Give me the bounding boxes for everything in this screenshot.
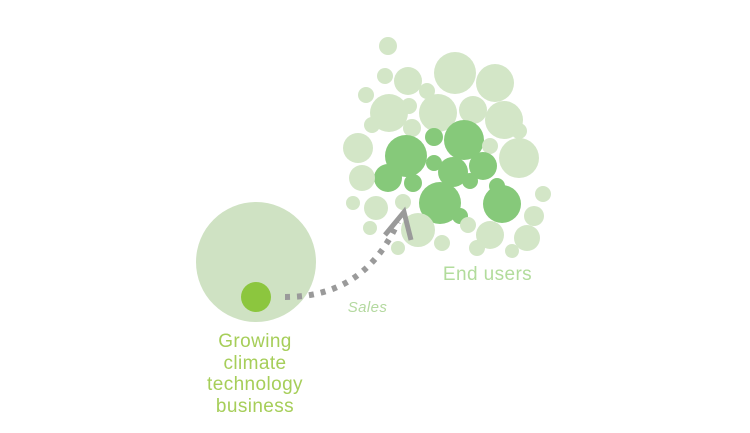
sales-flow-arrow [0, 0, 750, 433]
source-business-label: Growingclimatetechnologybusiness [160, 331, 350, 417]
sales-arrow-head [385, 212, 411, 240]
source-business-label-line: technology [160, 374, 350, 396]
diagram-canvas: Growingclimatetechnologybusiness Sales E… [0, 0, 750, 433]
source-business-label-line: Growing [160, 331, 350, 353]
end-users-label: End users [380, 264, 595, 286]
sales-label: Sales [310, 299, 425, 316]
source-business-label-line: climate [160, 353, 350, 375]
source-business-label-line: business [160, 396, 350, 418]
